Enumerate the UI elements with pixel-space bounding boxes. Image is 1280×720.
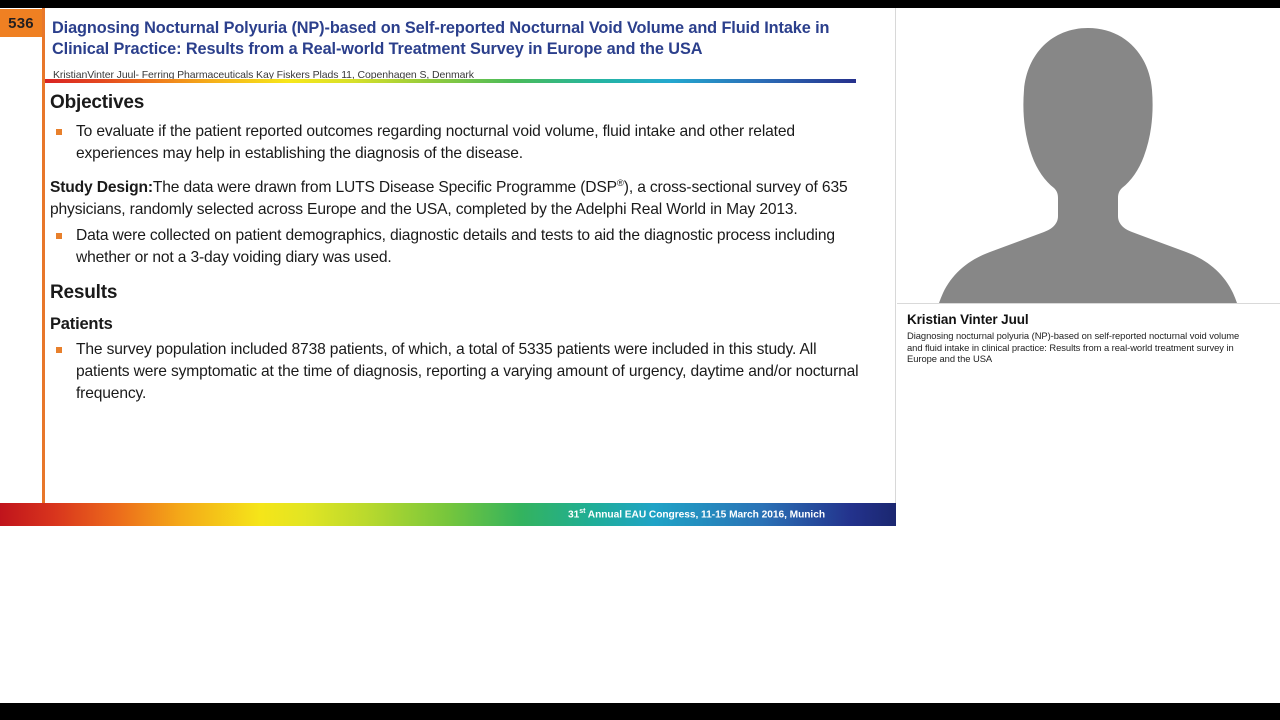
bullet-patients: The survey population included 8738 pati… <box>54 339 870 405</box>
results-heading: Results <box>50 281 870 305</box>
congress-number: 31 <box>568 510 579 521</box>
avatar <box>897 8 1280 303</box>
letterbox-bottom <box>0 703 1280 720</box>
speaker-panel: Kristian Vinter Juul Diagnosing nocturna… <box>897 8 1280 519</box>
slide-left-accent-bar <box>42 8 45 508</box>
slide-body: Objectives To evaluate if the patient re… <box>50 91 870 411</box>
square-bullet-icon <box>56 233 62 239</box>
congress-title: Annual EAU Congress, 11-15 March 2016, M… <box>585 510 825 521</box>
panel-divider <box>897 303 1280 304</box>
speaker-presentation-title: Diagnosing nocturnal polyuria (NP)-based… <box>907 330 1255 365</box>
slide-title: Diagnosing Nocturnal Polyuria (NP)-based… <box>52 18 890 59</box>
patients-bullet-text: The survey population included 8738 pati… <box>76 341 859 402</box>
speaker-name: Kristian Vinter Juul <box>907 312 1275 327</box>
slide-footer-bar: 31st Annual EAU Congress, 11-15 March 20… <box>0 503 896 526</box>
objectives-bullet-text: To evaluate if the patient reported outc… <box>76 123 795 162</box>
study-design-text-a: The data were drawn from LUTS Disease Sp… <box>153 179 617 196</box>
letterbox-top <box>0 0 1280 8</box>
congress-footer-text: 31st Annual EAU Congress, 11-15 March 20… <box>568 508 825 520</box>
patients-heading: Patients <box>50 313 870 335</box>
study-design-label: Study Design: <box>50 179 153 196</box>
data-collection-bullet-text: Data were collected on patient demograph… <box>76 227 835 266</box>
square-bullet-icon <box>56 129 62 135</box>
objectives-heading: Objectives <box>50 91 870 115</box>
person-silhouette-icon <box>897 8 1280 303</box>
square-bullet-icon <box>56 347 62 353</box>
bullet-data-collection: Data were collected on patient demograph… <box>54 225 870 269</box>
video-stage: 536 Diagnosing Nocturnal Polyuria (NP)-b… <box>0 8 1280 703</box>
presentation-slide: 536 Diagnosing Nocturnal Polyuria (NP)-b… <box>0 8 896 519</box>
registered-mark-icon: ® <box>617 178 624 189</box>
bullet-objectives: To evaluate if the patient reported outc… <box>54 121 870 165</box>
rainbow-divider-rule <box>45 79 856 83</box>
abstract-number-badge: 536 <box>0 9 42 37</box>
study-design-paragraph: Study Design:The data were drawn from LU… <box>50 173 870 221</box>
